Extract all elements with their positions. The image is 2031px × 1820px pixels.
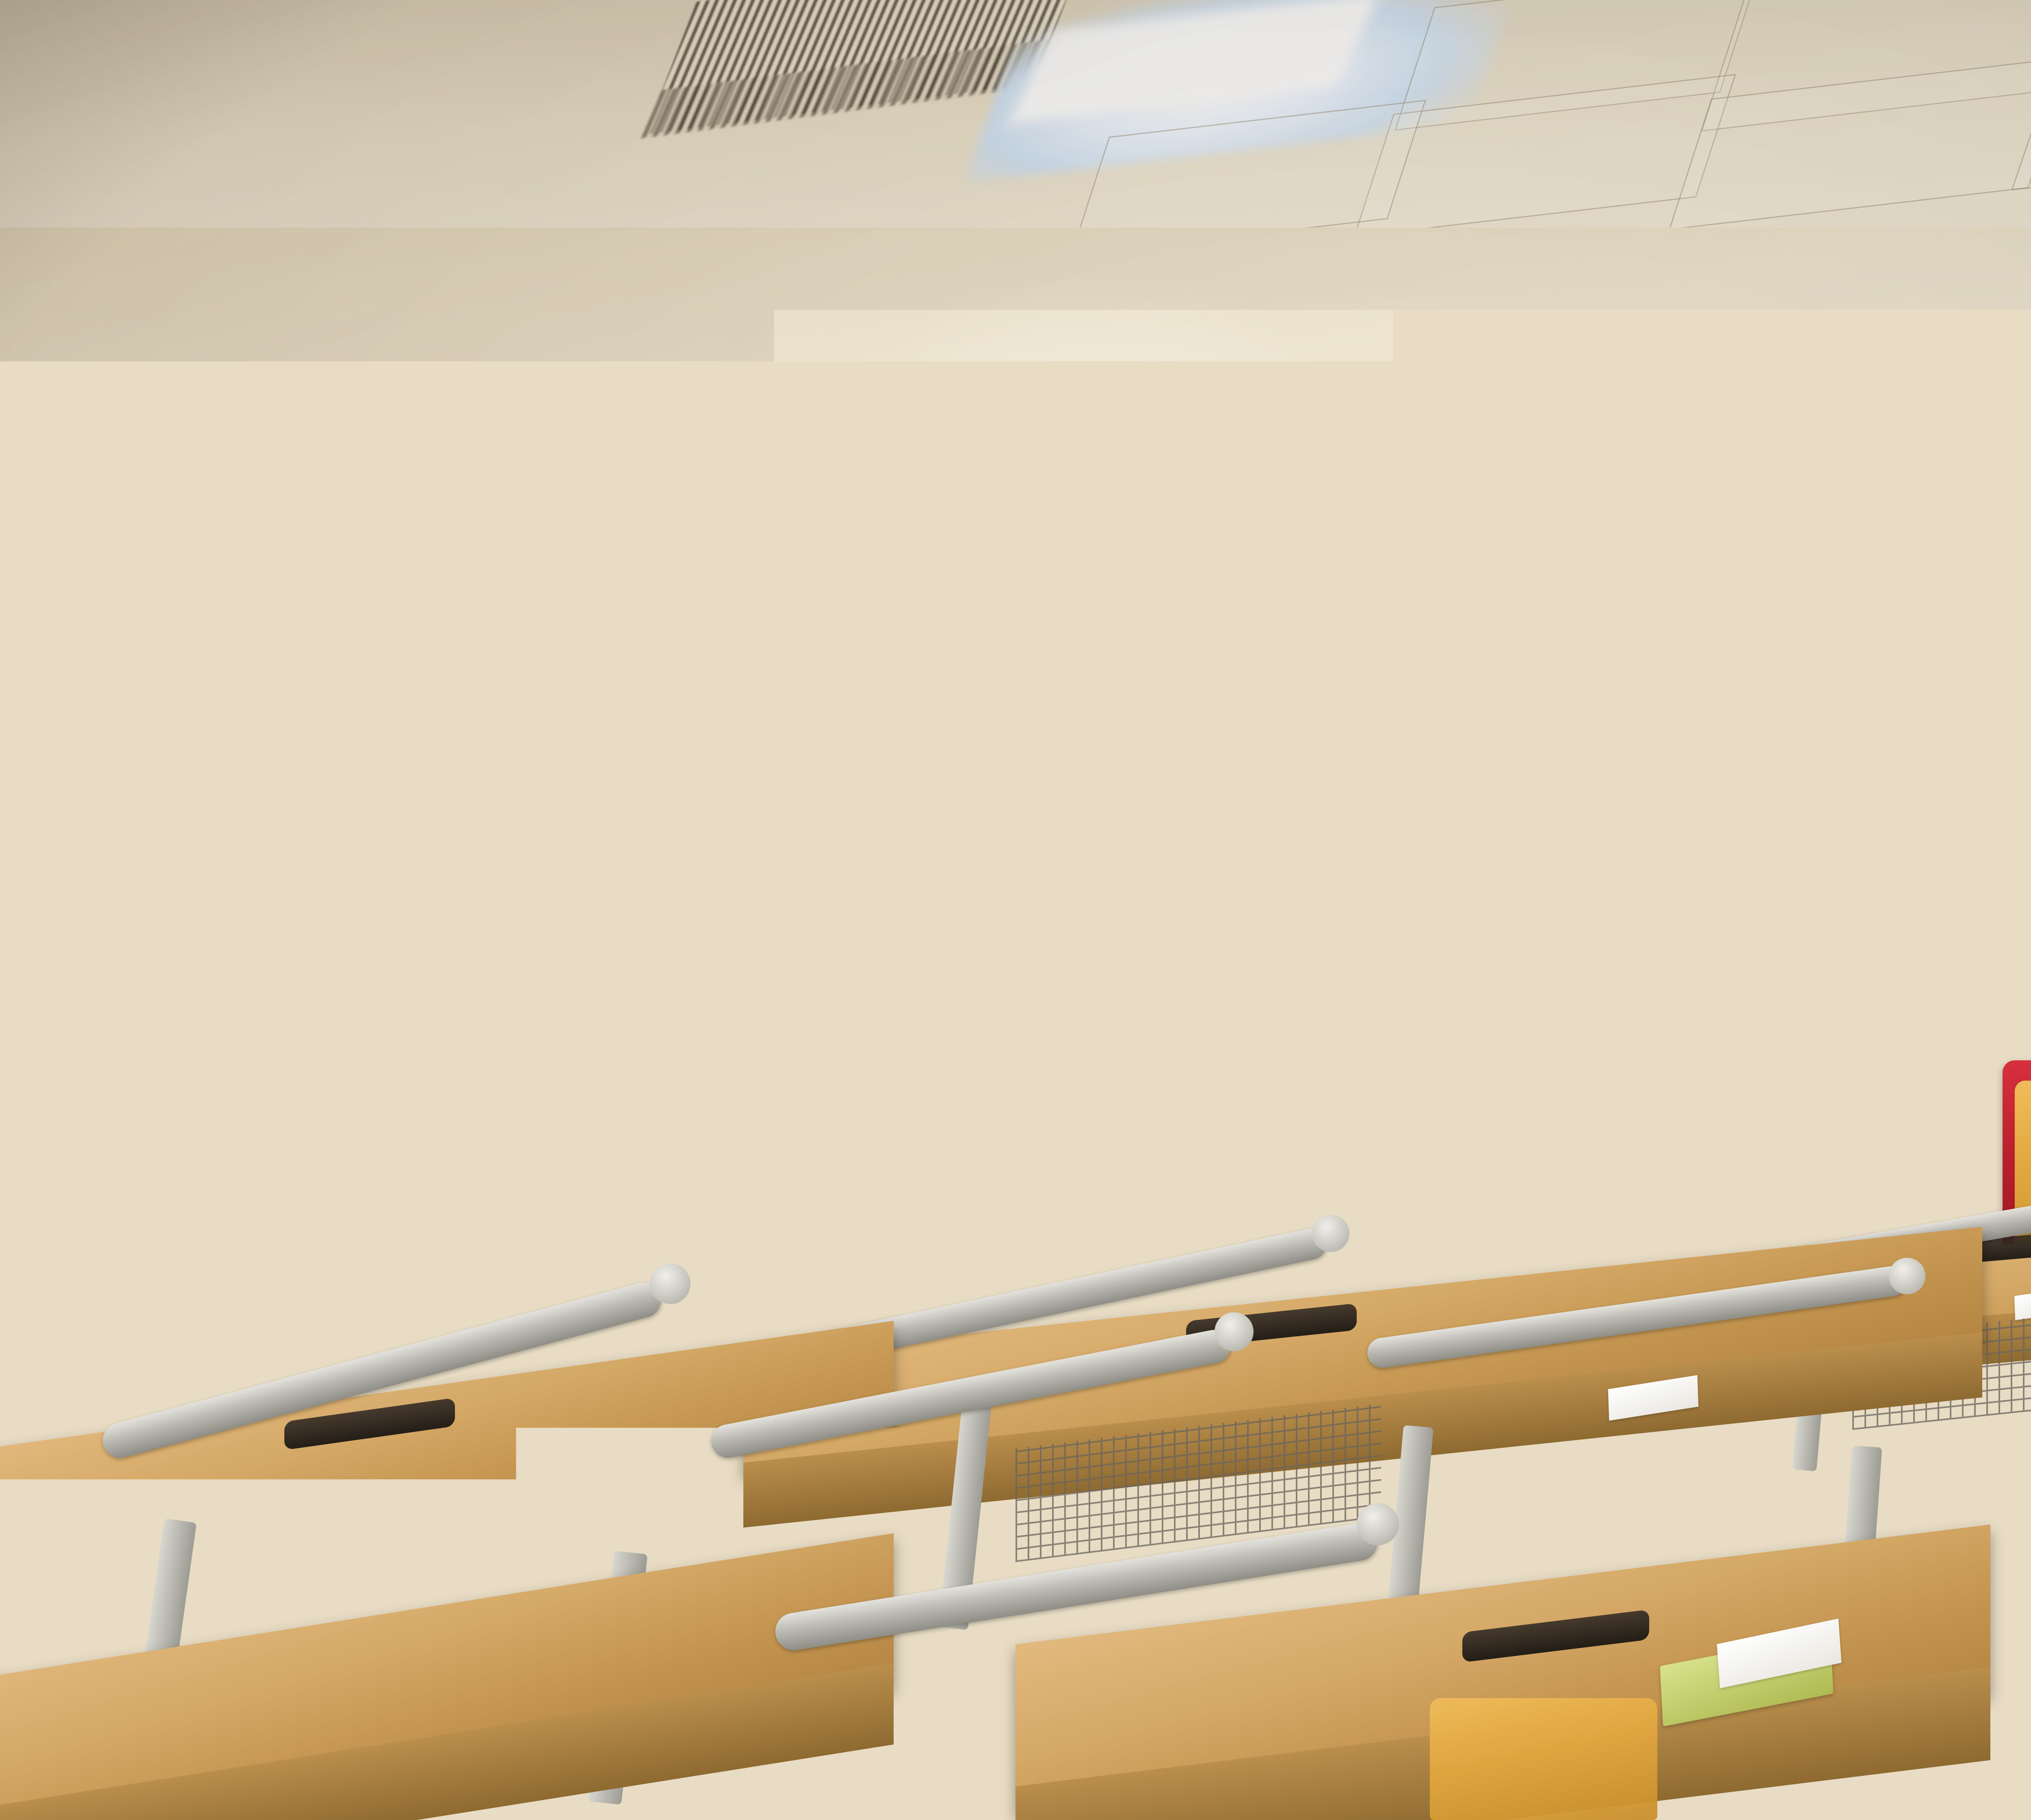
camera-lens [1539,934,1588,969]
light-switch[interactable] [992,859,1015,873]
face-mask-n95 [775,953,830,1021]
side-chair-leg [1686,997,1694,1156]
tripod-collar [1592,1040,1663,1057]
face-mask [548,900,591,954]
seat-backrest[interactable] [997,930,1107,1048]
person-hair [546,852,630,907]
eyeglasses [407,900,450,929]
side-chair-backrest[interactable] [1732,916,1858,1046]
door-hinge [1438,808,1446,849]
side-chair-leg [1743,1062,1752,1156]
eyeglasses [96,824,137,851]
door-window-left [1243,727,1296,898]
person-face [191,861,244,934]
person-hair [1406,899,1470,940]
wall-switch-plate[interactable] [983,849,1063,900]
rail-end-cap [1357,1503,1399,1545]
door-handle-left[interactable] [1294,817,1303,861]
rail-end-cap [1312,1215,1349,1252]
lecture-hall-photo: مركز التعليم المستمر UNIVERSITY OF WARIT… [0,0,2031,1820]
person-hair [1149,892,1213,931]
person-hair [350,847,437,905]
rail-end-cap [528,1024,558,1054]
rail-end-cap [1215,1312,1254,1351]
wall-light-glow [1503,366,2031,975]
camera-handle[interactable] [1637,896,1690,921]
door-handle-right[interactable] [1414,707,1422,745]
seat-backrest[interactable] [1430,1698,1657,1820]
light-switch[interactable] [1025,859,1048,873]
tripod-head[interactable] [1596,997,1657,1042]
light-switch[interactable] [992,879,1015,890]
transom-louvers [1280,575,1353,603]
shirt-collar [609,934,654,1003]
banner-title: مركز التعليم المستمر [1885,1719,2031,1792]
face-mask [1454,938,1480,973]
door-hinge [1175,695,1182,731]
cap [1883,1014,1964,1071]
rail-end-cap [650,1263,691,1304]
rail-end-cap [881,1052,909,1080]
door-window-right [1345,727,1397,898]
camera-lcd-screen[interactable] [1578,886,1633,923]
rail-end-cap [1889,1258,1925,1294]
